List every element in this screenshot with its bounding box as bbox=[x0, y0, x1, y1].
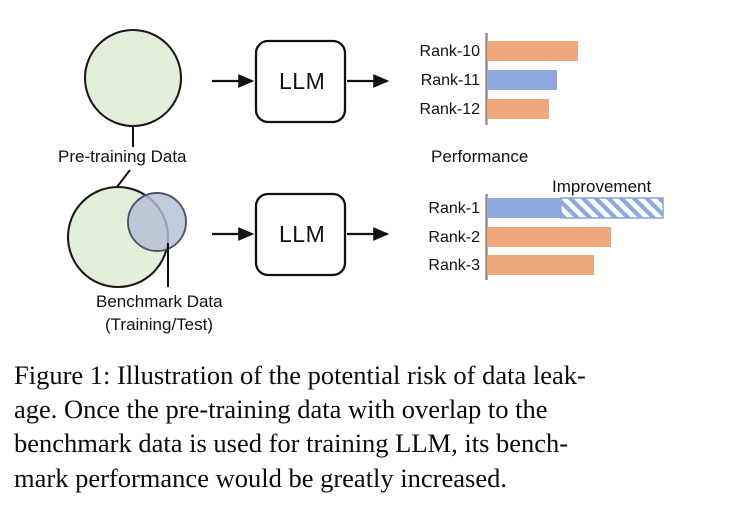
figure-1: LLM Pre-training Data Rank-10 Rank-11 Ra… bbox=[0, 0, 734, 531]
caption-line: mark performance would be greatly increa… bbox=[14, 461, 720, 495]
bar-label-rank-3: Rank-3 bbox=[404, 258, 480, 274]
bar-rank-10 bbox=[487, 41, 578, 61]
bar-label-rank-1: Rank-1 bbox=[404, 201, 480, 217]
benchmark-circle bbox=[128, 193, 186, 251]
llm-box-top-label: LLM bbox=[279, 70, 325, 93]
improvement-annotation-label: Improvement bbox=[552, 178, 651, 195]
bar-rank-2 bbox=[487, 227, 611, 247]
benchmark-data-label: Benchmark Data bbox=[96, 293, 223, 310]
bar-label-rank-12: Rank-12 bbox=[404, 102, 480, 118]
bar-label-rank-2: Rank-2 bbox=[404, 230, 480, 246]
pretraining-data-label: Pre-training Data bbox=[58, 148, 187, 165]
figure-caption: Figure 1: Illustration of the potential … bbox=[14, 358, 720, 495]
bar-rank-11 bbox=[487, 70, 557, 90]
bar-rank-1-base bbox=[487, 198, 561, 218]
caption-line: age. Once the pre-training data with ove… bbox=[14, 392, 720, 426]
benchmark-data-sublabel: (Training/Test) bbox=[105, 316, 213, 333]
bar-rank-3 bbox=[487, 255, 594, 275]
figure-diagram: LLM Pre-training Data Rank-10 Rank-11 Ra… bbox=[0, 0, 734, 352]
bar-label-rank-11: Rank-11 bbox=[404, 73, 480, 89]
bar-rank-1-improvement bbox=[561, 198, 663, 218]
performance-axis-label: Performance bbox=[431, 148, 528, 165]
bar-rank-12 bbox=[487, 99, 549, 119]
caption-line: Figure 1: Illustration of the potential … bbox=[14, 358, 720, 392]
pretraining-data-circle bbox=[85, 30, 181, 126]
bar-label-rank-10: Rank-10 bbox=[404, 44, 480, 60]
llm-box-bottom-label: LLM bbox=[279, 223, 325, 246]
caption-line: benchmark data is used for training LLM,… bbox=[14, 426, 720, 460]
